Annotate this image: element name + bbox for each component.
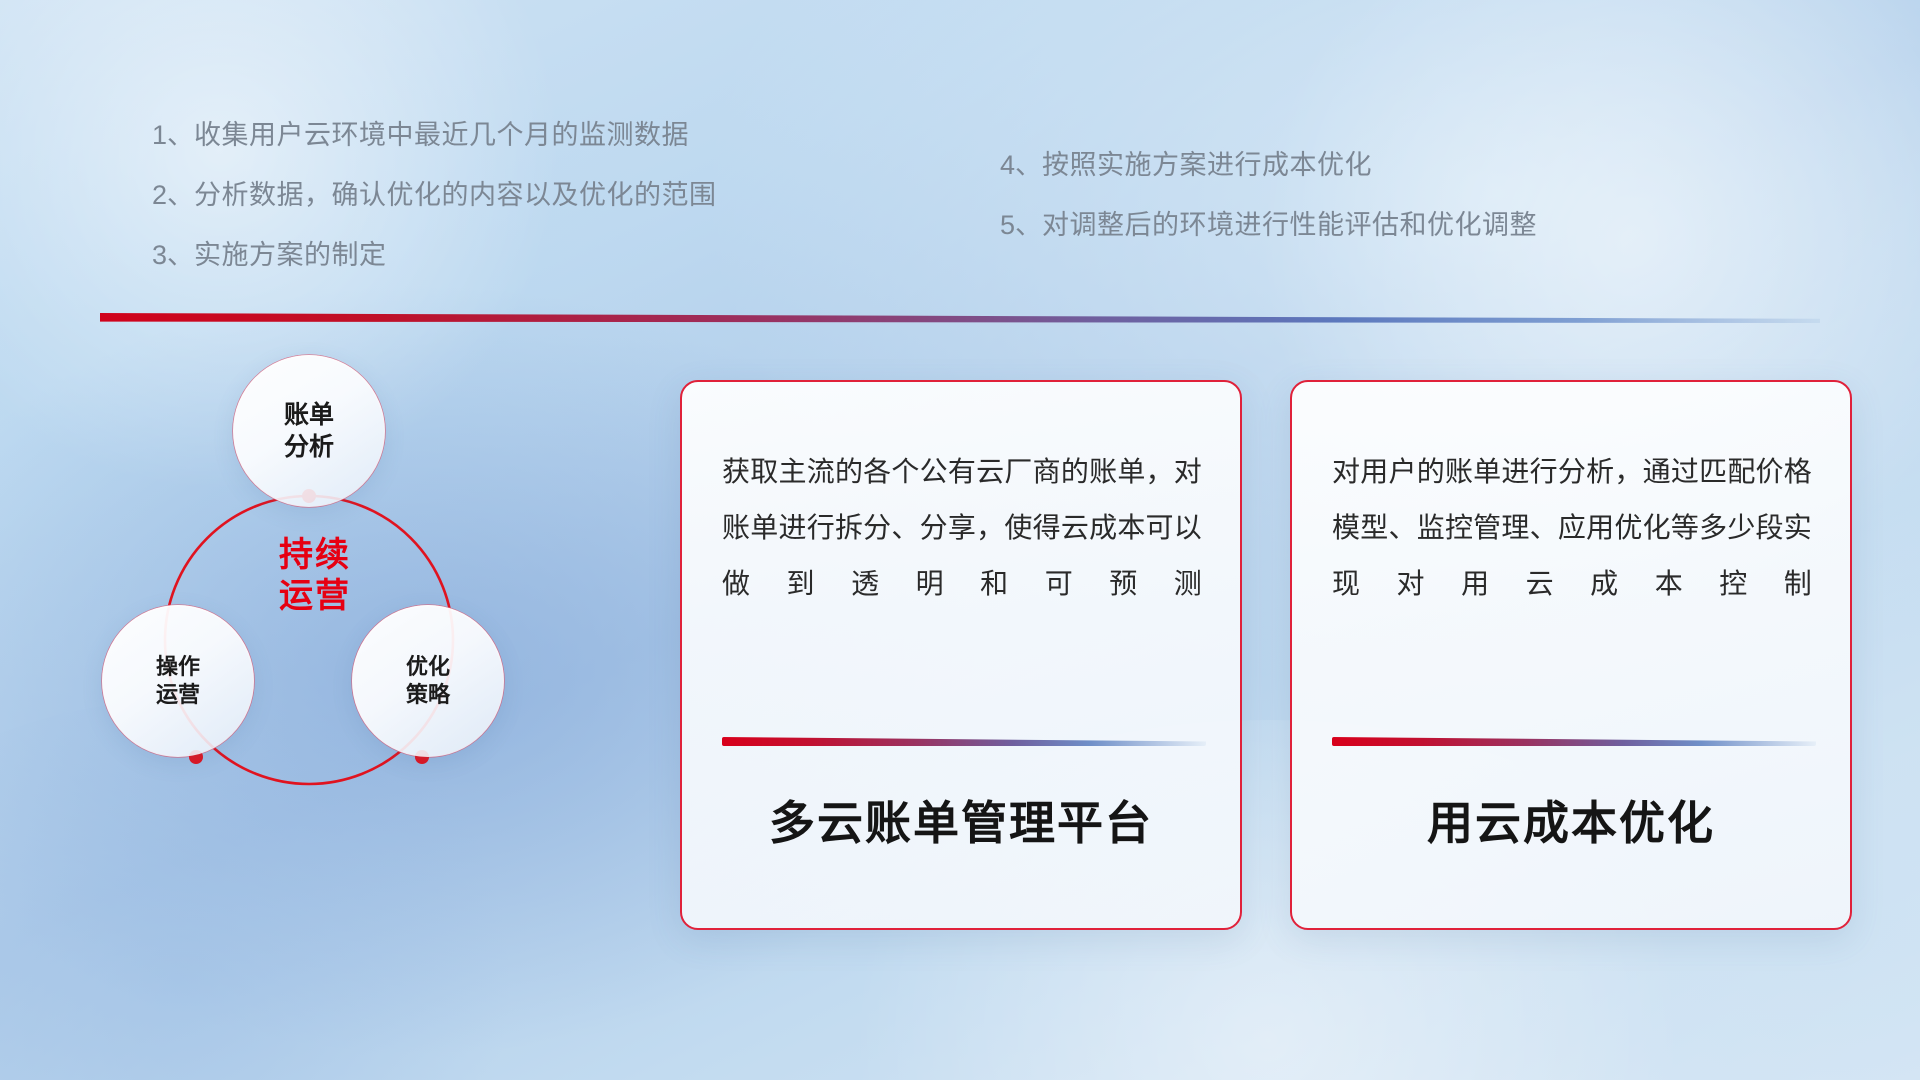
list-item-number: 1、 [152,120,194,150]
list-item-label: 实施方案的制定 [194,240,387,270]
list-item-label: 分析数据，确认优化的内容以及优化的范围 [194,180,717,210]
list-item: 4、按照实施方案进行成本优化 [1000,152,1537,179]
venn-bubble-line1: 操作 [156,653,200,681]
card-title: 用云成本优化 [1292,787,1850,853]
venn-bubble-bill-analysis[interactable]: 账单 分析 [233,355,385,507]
venn-bubble-line1: 优化 [406,653,450,681]
venn-bubble-line2: 策略 [406,681,450,709]
list-item-label: 对调整后的环境进行性能评估和优化调整 [1042,210,1537,240]
steps-left-column: 1、收集用户云环境中最近几个月的监测数据 2、分析数据，确认优化的内容以及优化的… [152,122,717,302]
venn-diagram: 账单 分析 操作 运营 优化 策略 持续 运营 [100,350,620,870]
list-item-number: 3、 [152,240,194,270]
list-item: 2、分析数据，确认优化的内容以及优化的范围 [152,182,717,209]
info-card-cloud-cost-optimization[interactable]: 对用户的账单进行分析，通过匹配价格模型、监控管理、应用优化等多少段实现对用云成本… [1290,380,1852,930]
venn-center-line2: 运营 [220,576,410,617]
info-card-multicloud-billing[interactable]: 获取主流的各个公有云厂商的账单，对账单进行拆分、分享，使得云成本可以做到透明和可… [680,380,1242,930]
venn-bubble-line2: 运营 [156,681,200,709]
list-item: 3、实施方案的制定 [152,242,717,269]
venn-bubble-optimization-strategy[interactable]: 优化 策略 [352,605,504,757]
card-body-text: 获取主流的各个公有云厂商的账单，对账单进行拆分、分享，使得云成本可以做到透明和可… [722,444,1202,612]
venn-bubble-line2: 分析 [284,431,334,463]
section-divider [100,313,1820,323]
section-divider-bar [100,313,1820,323]
list-item-number: 4、 [1000,150,1042,180]
list-item: 5、对调整后的环境进行性能评估和优化调整 [1000,212,1537,239]
slide-canvas: 1、收集用户云环境中最近几个月的监测数据 2、分析数据，确认优化的内容以及优化的… [0,0,1920,1080]
card-body-text: 对用户的账单进行分析，通过匹配价格模型、监控管理、应用优化等多少段实现对用云成本… [1332,444,1812,612]
venn-bubble-operations[interactable]: 操作 运营 [102,605,254,757]
list-item-number: 2、 [152,180,194,210]
card-divider [722,737,1206,746]
venn-bubble-line1: 账单 [284,399,334,431]
list-item-label: 按照实施方案进行成本优化 [1042,150,1372,180]
steps-right-column: 4、按照实施方案进行成本优化 5、对调整后的环境进行性能评估和优化调整 [1000,152,1537,272]
venn-center-label: 持续 运营 [220,535,410,618]
list-item-label: 收集用户云环境中最近几个月的监测数据 [194,120,689,150]
list-item-number: 5、 [1000,210,1042,240]
card-title: 多云账单管理平台 [682,787,1240,853]
card-divider [1332,737,1816,746]
venn-center-line1: 持续 [220,535,410,576]
list-item: 1、收集用户云环境中最近几个月的监测数据 [152,122,717,149]
